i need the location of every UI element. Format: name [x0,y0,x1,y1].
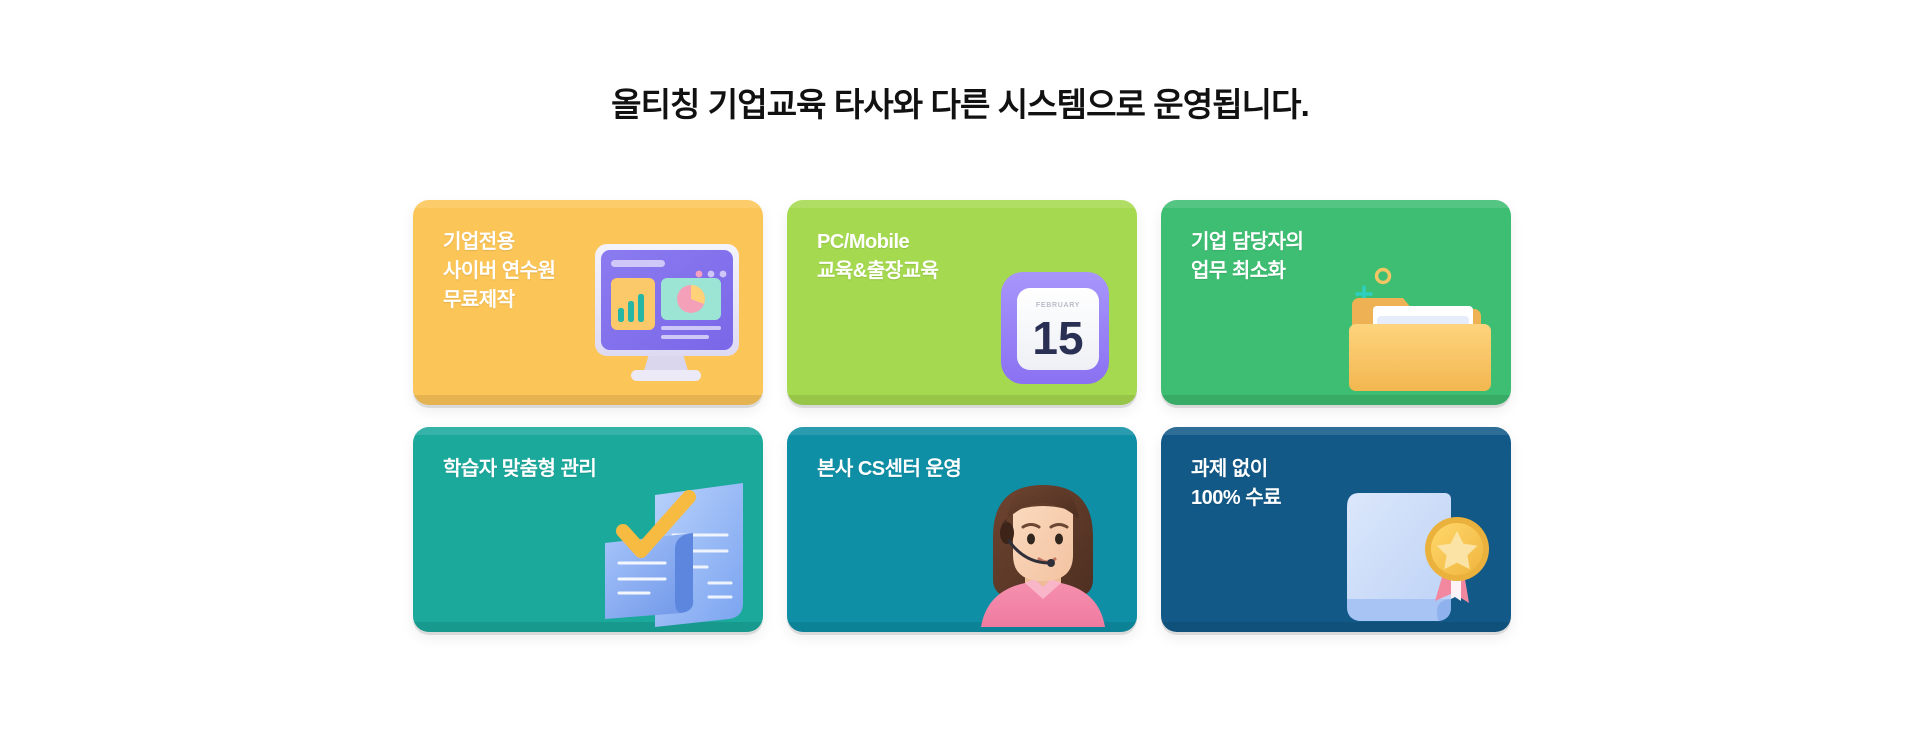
certificate-award-icon [1345,487,1495,632]
calendar-month-label: FEBRUARY [1036,302,1080,309]
card-label: 과제 없이 100% 수료 [1191,455,1281,513]
page-title: 올티칭 기업교육 타사와 다른 시스템으로 운영됩니다. [611,84,1309,127]
card-label: 기업전용 사이버 연수원 무료제작 [443,228,555,315]
checklist-document-icon [593,477,753,632]
page-title-wrap: 올티칭 기업교육 타사와 다른 시스템으로 운영됩니다. [0,62,1920,149]
monitor-dashboard-icon [587,236,747,391]
promo-feature-section: 올티칭 기업교육 타사와 다른 시스템으로 운영됩니다. 기업전용 사이버 연수… [0,0,1920,756]
card-label: 기업 담당자의 업무 최소화 [1191,228,1303,286]
feature-card-grid: 기업전용 사이버 연수원 무료제작 [413,200,1518,632]
folder-documents-icon [1347,260,1497,405]
feature-card-pc-mobile-training[interactable]: PC/Mobile 교육&출장교육 FEBRUARY 15 [787,200,1137,405]
feature-card-minimize-manager-work[interactable]: 기업 담당자의 업무 최소화 [1161,200,1511,405]
feature-card-cs-center[interactable]: 본사 CS센터 운영 [787,427,1137,632]
headset-agent-icon [963,467,1123,632]
feature-card-no-assignment-completion[interactable]: 과제 없이 100% 수료 [1161,427,1511,632]
card-label: 본사 CS센터 운영 [817,455,961,484]
calendar-day-label: 15 [1032,312,1083,364]
feature-card-corporate-cyber-campus[interactable]: 기업전용 사이버 연수원 무료제작 [413,200,763,405]
card-label: PC/Mobile 교육&출장교육 [817,228,938,286]
feature-card-learner-custom-management[interactable]: 학습자 맞춤형 관리 [413,427,763,632]
calendar-icon: FEBRUARY 15 [995,266,1115,397]
card-label: 학습자 맞춤형 관리 [443,455,596,484]
